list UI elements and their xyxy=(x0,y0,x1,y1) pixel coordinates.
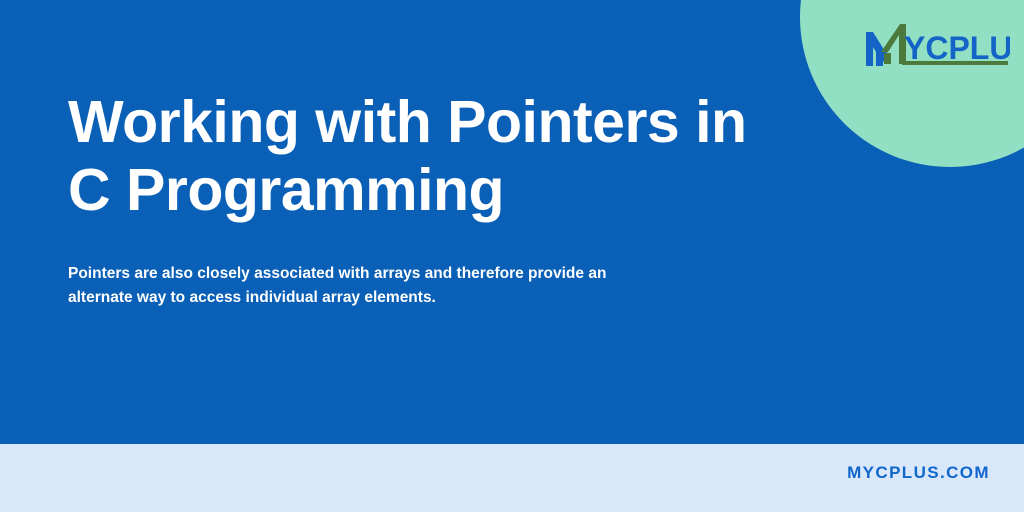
page-title: Working with Pointers in C Programming xyxy=(68,88,768,225)
banner-graphic: YCPLUS Working with Pointers in C Progra… xyxy=(0,0,1024,512)
logo-green-roof-icon xyxy=(881,24,906,64)
logo-wordmark-text: YCPLUS xyxy=(904,30,1010,66)
mycplus-logo[interactable]: YCPLUS xyxy=(864,22,1010,68)
footer-website-url[interactable]: MYCPLUS.COM xyxy=(847,463,990,483)
logo-underline xyxy=(902,61,1008,65)
page-subtitle: Pointers are also closely associated wit… xyxy=(68,262,668,310)
logo-svg: YCPLUS xyxy=(864,22,1010,68)
